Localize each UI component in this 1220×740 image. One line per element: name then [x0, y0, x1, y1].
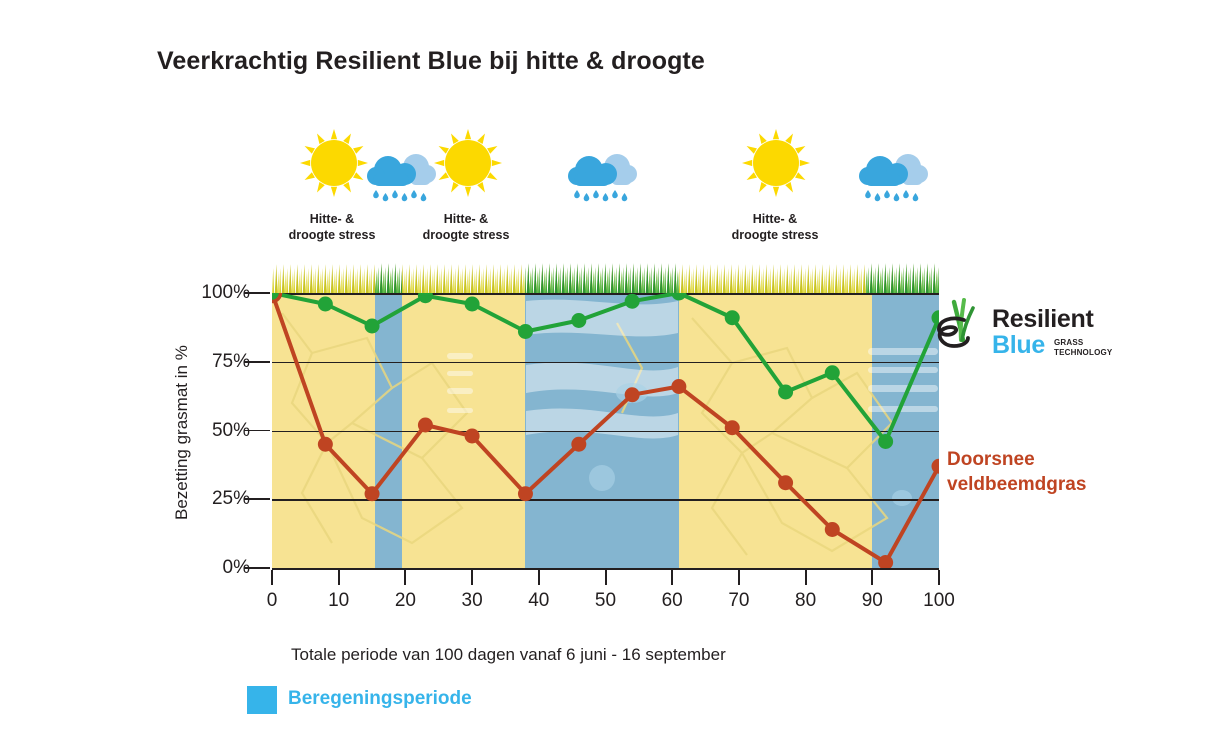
- x-tick-label-40: 40: [528, 590, 549, 612]
- series-layer: [272, 293, 939, 568]
- x-tick-70: [738, 570, 740, 585]
- y-tick-dash-75: [244, 361, 270, 363]
- stress-caption-1: Hitte- & droogte stress: [262, 212, 402, 243]
- y-tick-label-0: 0%: [188, 557, 250, 579]
- x-tick-label-0: 0: [267, 590, 278, 612]
- x-tick-label-30: 30: [462, 590, 483, 612]
- y-tick-label-50: 50%: [188, 420, 250, 442]
- x-tick-0: [271, 570, 273, 585]
- infographic-canvas: Veerkrachtig Resilient Blue bij hitte & …: [0, 0, 1220, 740]
- x-tick-label-10: 10: [328, 590, 349, 612]
- y-tick-label-100: 100%: [188, 282, 250, 304]
- x-tick-40: [538, 570, 540, 585]
- sun-icon: [433, 128, 503, 198]
- series-2-point-5[interactable]: [518, 486, 533, 501]
- x-tick-100: [938, 570, 940, 585]
- origin-marker[interactable]: [272, 293, 281, 302]
- x-tick-20: [404, 570, 406, 585]
- series-2-point-4[interactable]: [465, 429, 480, 444]
- series-2-point-11[interactable]: [825, 522, 840, 537]
- series-1-point-10[interactable]: [778, 385, 793, 400]
- y-tick-label-75: 75%: [188, 351, 250, 373]
- legend-swatch-irrigation: [247, 686, 277, 714]
- y-tick-dash-50: [244, 430, 270, 432]
- x-tick-10: [338, 570, 340, 585]
- legend-label-irrigation: Beregeningsperiode: [288, 688, 472, 710]
- x-axis-caption: Totale periode van 100 dagen vanaf 6 jun…: [291, 645, 726, 665]
- series-2-point-2[interactable]: [365, 486, 380, 501]
- series-1-point-4[interactable]: [465, 297, 480, 312]
- series-2-point-6[interactable]: [571, 437, 586, 452]
- rain-cloud-icon: [565, 150, 637, 208]
- logo-word-resilient: Resilient: [992, 305, 1094, 334]
- x-tick-80: [805, 570, 807, 585]
- x-tick-50: [605, 570, 607, 585]
- logo-tagline: GRASS TECHNOLOGY: [1054, 338, 1112, 357]
- series-2-point-9[interactable]: [725, 420, 740, 435]
- series-1-point-8[interactable]: [671, 293, 686, 301]
- series-2-point-3[interactable]: [418, 418, 433, 433]
- x-tick-90: [871, 570, 873, 585]
- logo-word-blue: Blue: [992, 331, 1045, 360]
- resilient-blue-mark-icon: [930, 298, 990, 356]
- grass-strip-icon: [272, 262, 939, 296]
- series-1-point-11[interactable]: [825, 365, 840, 380]
- x-tick-label-20: 20: [395, 590, 416, 612]
- x-tick-30: [471, 570, 473, 585]
- y-tick-dash-100: [244, 292, 270, 294]
- chart-plot-area: [272, 293, 939, 568]
- y-axis-title: Bezetting grasmat in %: [172, 345, 192, 520]
- sun-icon: [299, 128, 369, 198]
- series-2-point-13[interactable]: [932, 459, 940, 474]
- series-1-point-12[interactable]: [878, 434, 893, 449]
- y-tick-dash-25: [244, 498, 270, 500]
- x-tick-label-50: 50: [595, 590, 616, 612]
- series-1-point-3[interactable]: [418, 293, 433, 303]
- y-tick-label-25: 25%: [188, 488, 250, 510]
- sun-icon: [741, 128, 811, 198]
- series-1-point-5[interactable]: [518, 324, 533, 339]
- series-1-point-2[interactable]: [365, 319, 380, 334]
- series-2-point-8[interactable]: [671, 379, 686, 394]
- series-1-point-1[interactable]: [318, 297, 333, 312]
- stress-caption-3: Hitte- & droogte stress: [705, 212, 845, 243]
- y-tick-dash-0: [244, 567, 270, 569]
- series-label-veldbeemdgras: Doorsnee veldbeemdgras: [947, 447, 1086, 497]
- rain-cloud-icon: [364, 150, 436, 208]
- stress-caption-2: Hitte- & droogte stress: [396, 212, 536, 243]
- x-tick-label-80: 80: [795, 590, 816, 612]
- series-2-point-1[interactable]: [318, 437, 333, 452]
- x-tick-label-70: 70: [728, 590, 749, 612]
- x-tick-label-100: 100: [923, 590, 955, 612]
- series-2-point-7[interactable]: [625, 387, 640, 402]
- series-1-point-9[interactable]: [725, 310, 740, 325]
- series-2-point-10[interactable]: [778, 475, 793, 490]
- rain-cloud-icon: [856, 150, 928, 208]
- x-tick-60: [671, 570, 673, 585]
- series-1-point-7[interactable]: [625, 294, 640, 309]
- series-1-point-6[interactable]: [571, 313, 586, 328]
- page-title: Veerkrachtig Resilient Blue bij hitte & …: [157, 47, 705, 76]
- x-tick-label-90: 90: [862, 590, 883, 612]
- x-tick-label-60: 60: [662, 590, 683, 612]
